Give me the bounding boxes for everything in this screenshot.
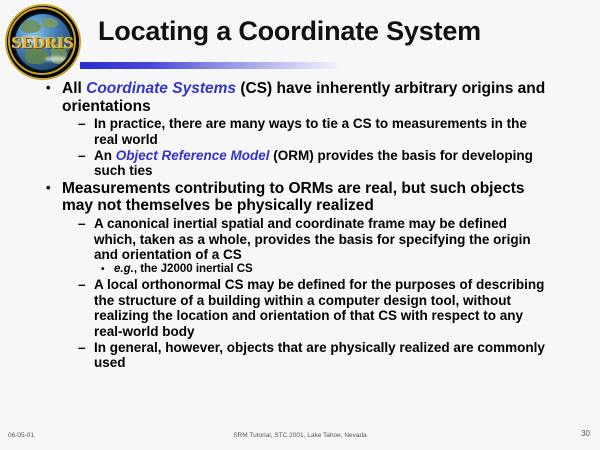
bullet-marker: –: [78, 216, 86, 231]
bullet-text: Measurements contributing to ORMs are re…: [62, 180, 525, 215]
text-run: A local orthonormal CS may be defined fo…: [94, 277, 544, 338]
bullet-item-level-2: –In general, however, objects that are p…: [78, 340, 546, 371]
bullet-item-level-2: –An Object Reference Model (ORM) provide…: [78, 148, 546, 179]
text-run: A canonical inertial spatial and coordin…: [94, 216, 531, 262]
bullet-text: e.g., the J2000 inertial CS: [114, 263, 253, 275]
bullet-marker: –: [78, 148, 86, 163]
text-run: In general, however, objects that are ph…: [94, 340, 545, 370]
emphasized-term: Coordinate Systems: [86, 80, 236, 97]
bullet-text: A canonical inertial spatial and coordin…: [94, 216, 531, 262]
text-run: Measurements contributing to ORMs are re…: [62, 180, 525, 215]
bullet-marker: –: [78, 116, 86, 131]
bullet-marker: –: [78, 277, 86, 292]
bullet-marker: •: [101, 263, 105, 276]
bullet-item-level-2: –In practice, there are many ways to tie…: [78, 116, 546, 147]
bullet-marker: •: [46, 80, 51, 96]
bullet-item-level-1: •Measurements contributing to ORMs are r…: [44, 180, 554, 215]
bullet-text: All Coordinate Systems (CS) have inheren…: [62, 80, 545, 115]
sedris-logo: SEDRIS ™: [7, 6, 79, 78]
bullet-marker: –: [78, 340, 86, 355]
bullet-text: In general, however, objects that are ph…: [94, 340, 545, 370]
page-title: Locating a Coordinate System: [98, 17, 593, 47]
slide-header: SEDRIS ™ Locating a Coordinate System: [0, 0, 600, 78]
slide-number: 30: [581, 429, 590, 438]
bullet-item-level-2: –A canonical inertial spatial and coordi…: [78, 216, 546, 262]
text-run: In practice, there are many ways to tie …: [94, 116, 527, 146]
slide-footer: 06-05-01 SRM Tutorial, STC 2001, Lake Ta…: [0, 424, 600, 450]
bullet-text: A local orthonormal CS may be defined fo…: [94, 277, 544, 338]
bullet-item-level-1: •All Coordinate Systems (CS) have inhere…: [44, 80, 554, 115]
text-run: All: [62, 80, 86, 97]
emphasized-term: Object Reference Model: [116, 148, 270, 163]
text-run: e.g.: [114, 263, 134, 275]
title-gradient-rule: [80, 62, 338, 69]
text-run: An: [94, 148, 116, 163]
footer-event-info: SRM Tutorial, STC 2001, Lake Tahoe, Neva…: [0, 432, 600, 439]
bullet-item-level-2: –A local orthonormal CS may be defined f…: [78, 277, 546, 339]
slide-body: •All Coordinate Systems (CS) have inhere…: [0, 80, 600, 420]
presentation-slide: SEDRIS ™ Locating a Coordinate System •A…: [0, 0, 600, 450]
bullet-item-level-3: •e.g., the J2000 inertial CS: [100, 263, 534, 276]
bullet-text: In practice, there are many ways to tie …: [94, 116, 527, 146]
bullet-text: An Object Reference Model (ORM) provides…: [94, 148, 533, 178]
text-run: , the J2000 inertial CS: [134, 263, 253, 275]
trademark-mark: ™: [64, 47, 69, 53]
bullet-list: •All Coordinate Systems (CS) have inhere…: [0, 80, 600, 371]
bullet-marker: •: [46, 180, 51, 196]
